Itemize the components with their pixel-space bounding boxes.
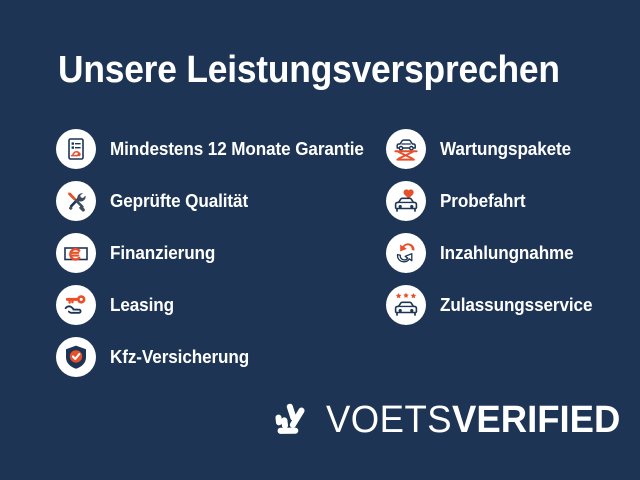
car-heart-icon — [386, 181, 426, 221]
feature-item-qualitaet: Geprüfte Qualität — [56, 180, 386, 222]
logo-wordmark: VOETSVERIFIED — [326, 400, 620, 440]
shield-check-icon — [56, 337, 96, 377]
feature-item-garantie: Mindestens 12 Monate Garantie — [56, 128, 386, 170]
certificate-document-icon — [56, 129, 96, 169]
feature-label: Zulassungsservice — [440, 295, 592, 316]
promo-banner: Unsere Leistungsversprechen Mindestens 1… — [0, 0, 640, 480]
feature-label: Finanzierung — [110, 243, 215, 264]
exchange-arrows-icon — [386, 233, 426, 273]
logo-name-bold: VERIFIED — [452, 399, 620, 441]
feature-label: Inzahlungnahme — [440, 243, 574, 264]
brand-logo: VOETSVERIFIED — [268, 398, 633, 442]
logo-name-light: VOETS — [326, 399, 452, 441]
feature-label: Probefahrt — [440, 191, 526, 212]
page-title: Unsere Leistungsversprechen — [58, 48, 560, 92]
feature-list-left: Mindestens 12 Monate Garantie — [56, 128, 386, 388]
feature-item-versicherung: Kfz-Versicherung — [56, 336, 386, 378]
feature-label: Leasing — [110, 295, 174, 316]
feature-item-leasing: Leasing — [56, 284, 386, 326]
feature-item-wartungspakete: Wartungspakete — [386, 128, 636, 170]
feature-item-finanzierung: Finanzierung — [56, 232, 386, 274]
feature-item-inzahlungnahme: Inzahlungnahme — [386, 232, 636, 274]
victory-hand-icon — [268, 398, 312, 442]
feature-item-zulassungsservice: Zulassungsservice — [386, 284, 636, 326]
key-in-hand-icon — [56, 285, 96, 325]
feature-label: Mindestens 12 Monate Garantie — [110, 139, 364, 160]
euro-banknote-icon — [56, 233, 96, 273]
feature-label: Kfz-Versicherung — [110, 347, 249, 368]
feature-label: Geprüfte Qualität — [110, 191, 248, 212]
feature-list-right: Wartungspakete Probefahrt — [386, 128, 636, 336]
wrench-screwdriver-icon — [56, 181, 96, 221]
car-stars-icon — [386, 285, 426, 325]
feature-item-probefahrt: Probefahrt — [386, 180, 636, 222]
feature-label: Wartungspakete — [440, 139, 571, 160]
car-on-lift-icon — [386, 129, 426, 169]
